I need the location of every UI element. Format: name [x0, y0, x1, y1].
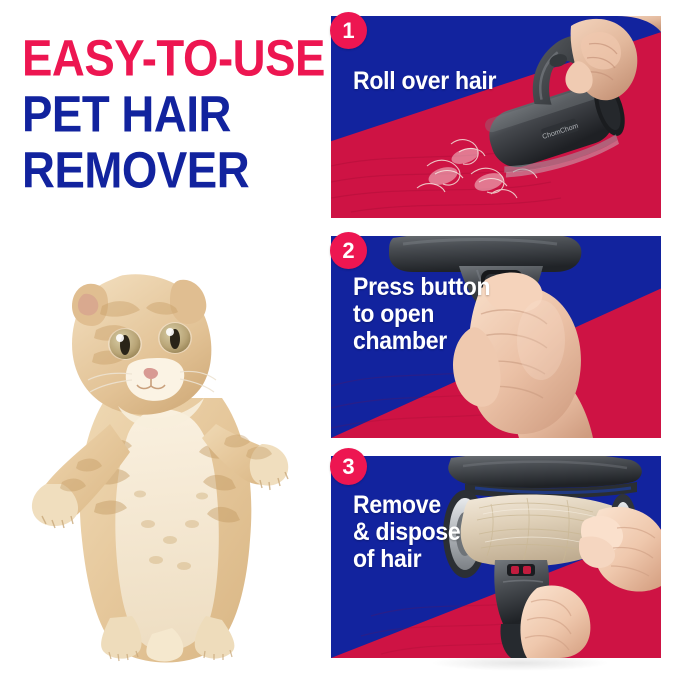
hand-left [520, 586, 590, 658]
headline-line-1: EASY-TO-USE [22, 34, 325, 85]
headline-line-3: REMOVER [22, 146, 249, 197]
step-badge-3: 3 [330, 448, 367, 485]
step-2-caption: Press button to open chamber [353, 274, 490, 355]
step-panel-2[interactable]: Press button to open chamber [331, 236, 661, 438]
step-badge-1: 1 [330, 12, 367, 49]
step-badge-2-number: 2 [342, 238, 354, 264]
step-panel-3[interactable]: Remove & dispose of hair [331, 456, 661, 658]
infographic-canvas: EASY-TO-USE PET HAIR REMOVER [0, 0, 679, 679]
cat-photo [10, 248, 310, 668]
step-1-caption: Roll over hair [353, 68, 496, 95]
step-3-caption: Remove & dispose of hair [353, 492, 460, 573]
hand [565, 16, 661, 100]
step-badge-1-number: 1 [342, 18, 354, 44]
panel-1-product-image: ChomChom [331, 16, 661, 218]
left-column: EASY-TO-USE PET HAIR REMOVER [0, 0, 320, 679]
step-badge-2: 2 [330, 232, 367, 269]
step-badge-3-number: 3 [342, 454, 354, 480]
step-panel-1[interactable]: ChomChom [331, 16, 661, 218]
device-lid [448, 456, 642, 498]
headline-line-2: PET HAIR [22, 90, 231, 141]
hand-right [579, 507, 661, 592]
